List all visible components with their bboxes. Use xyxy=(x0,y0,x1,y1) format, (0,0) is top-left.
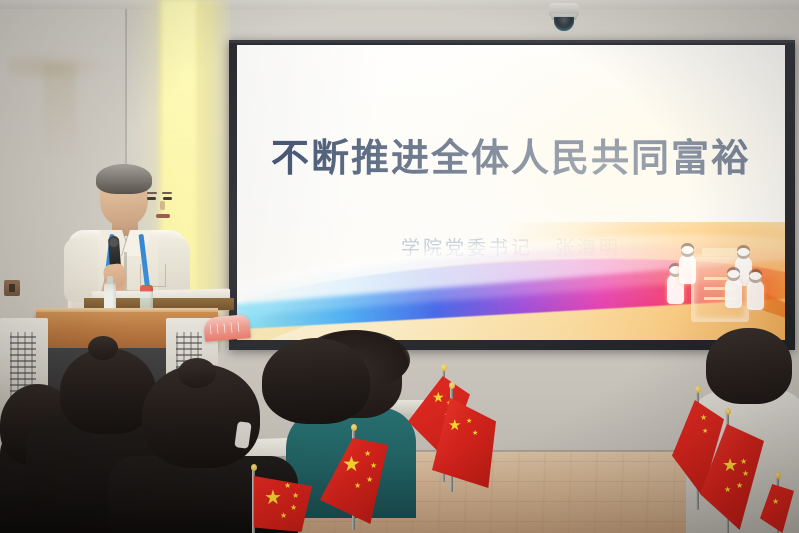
hair-bun xyxy=(88,336,118,360)
ceiling-strip xyxy=(0,0,799,9)
flag-small-star: ★ xyxy=(292,492,299,500)
slide-title: 不断推进全体人民共同富裕 xyxy=(237,127,785,182)
camera-lens xyxy=(554,17,574,31)
flag-large-star: ★ xyxy=(448,418,461,433)
presentation-slide: 不断推进全体人民共同富裕 学院党委书记 张海明 xyxy=(237,45,785,340)
presenter-mouth xyxy=(156,214,170,218)
flag-small-star: ★ xyxy=(742,470,749,478)
flag-small-star: ★ xyxy=(702,428,708,435)
wall-streak xyxy=(44,64,76,160)
flag-finial xyxy=(441,364,447,371)
flag-small-star: ★ xyxy=(466,418,472,425)
flag-small-star: ★ xyxy=(284,482,291,490)
presenter-brow xyxy=(147,192,157,194)
attendee-head xyxy=(706,328,792,404)
flag-large-star: ★ xyxy=(722,456,738,474)
flag-large-star: ★ xyxy=(342,454,361,475)
audience-group xyxy=(0,330,799,533)
flag-small-star: ★ xyxy=(354,482,361,490)
projection-screen-frame: 不断推进全体人民共同富裕 学院党委书记 张海明 xyxy=(229,40,795,350)
flag-small-star: ★ xyxy=(736,482,743,490)
presenter-eyes xyxy=(147,197,156,200)
flag-small-star: ★ xyxy=(364,450,371,458)
presenter-hair xyxy=(96,164,152,194)
presentation-photo-scene: 不断推进全体人民共同富裕 学院党委书记 张海明 xyxy=(0,0,799,533)
attendee-head xyxy=(262,338,370,424)
children-illustration xyxy=(665,246,769,326)
slide-wave-decoration xyxy=(237,222,785,340)
ceiling-dome-camera xyxy=(549,3,579,33)
flag-small-star: ★ xyxy=(772,498,779,506)
flag-finial xyxy=(449,382,455,389)
flag-small-star: ★ xyxy=(290,504,297,512)
kid-figure xyxy=(725,278,742,308)
kid-figure xyxy=(679,254,696,284)
flag-finial xyxy=(695,386,701,393)
flag-finial xyxy=(351,424,357,431)
flag-small-star: ★ xyxy=(370,462,377,470)
flag-small-star: ★ xyxy=(472,430,478,437)
flag-small-star: ★ xyxy=(366,476,373,484)
flag-finial xyxy=(251,464,257,471)
wall-power-outlet xyxy=(4,280,20,296)
flag-small-star: ★ xyxy=(700,414,707,422)
flag-finial xyxy=(725,408,731,415)
flag-large-star: ★ xyxy=(264,488,282,508)
flag-small-star: ★ xyxy=(724,486,731,494)
flag-small-star: ★ xyxy=(740,458,747,466)
presenter-nose xyxy=(160,201,165,210)
flag-small-star: ★ xyxy=(280,512,287,520)
kid-figure xyxy=(747,280,764,310)
flag-large-star: ★ xyxy=(432,390,445,404)
projection-screen-surface: 不断推进全体人民共同富裕 学院党委书记 张海明 xyxy=(237,45,785,340)
flag-finial xyxy=(775,472,781,479)
hair-bun xyxy=(178,358,216,388)
